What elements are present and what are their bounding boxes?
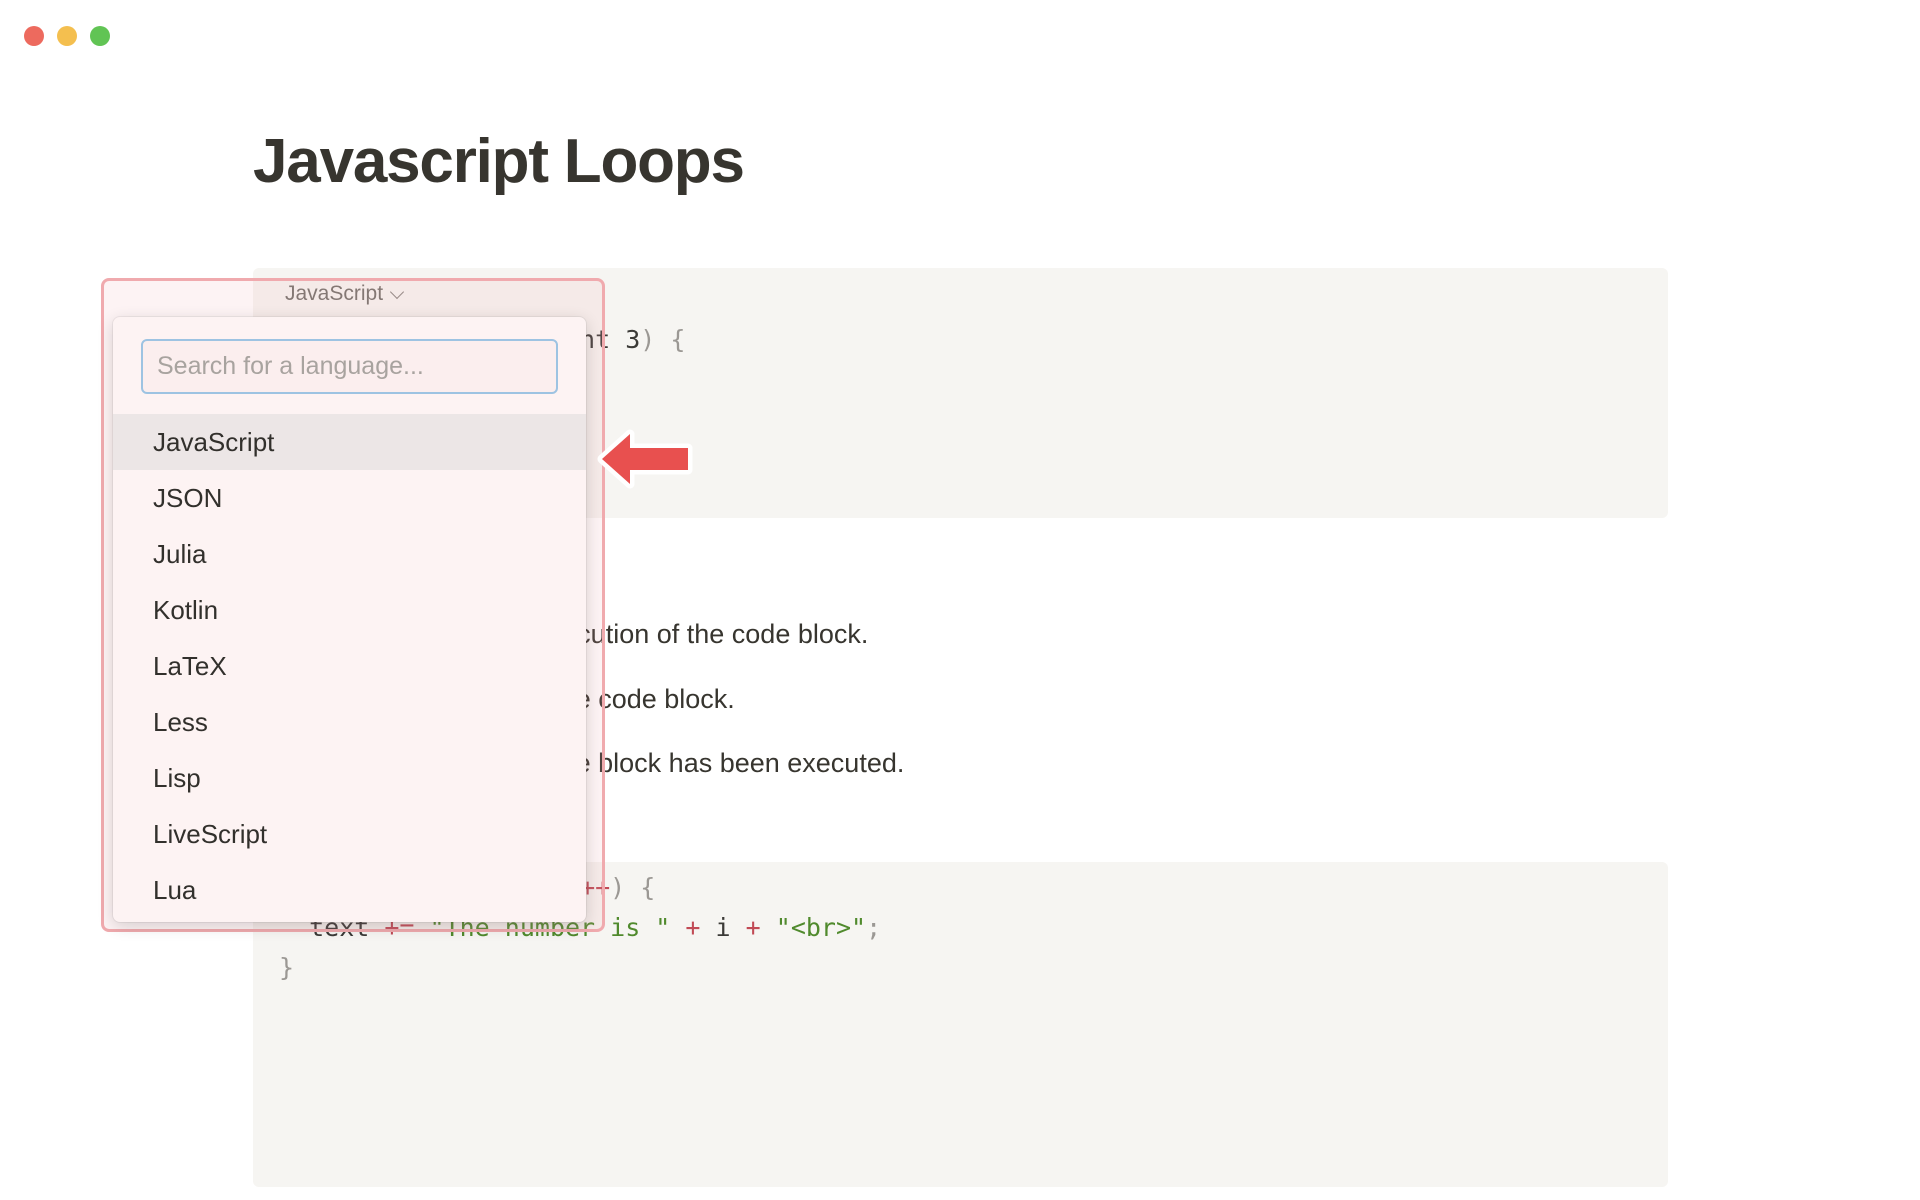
language-list-item[interactable]: LiveScript xyxy=(113,806,586,862)
language-search-input[interactable] xyxy=(141,339,558,394)
language-item-label: Lisp xyxy=(153,763,201,794)
language-list-item[interactable]: Lisp xyxy=(113,750,586,806)
language-item-label: Lua xyxy=(153,875,196,906)
language-item-label: JSON xyxy=(153,483,222,514)
language-list-item[interactable]: JSON xyxy=(113,470,586,526)
language-list-item[interactable]: Julia xyxy=(113,526,586,582)
language-item-label: JavaScript xyxy=(153,427,274,458)
code-language-bar: JavaScript xyxy=(253,268,1668,320)
language-item-label: Julia xyxy=(153,539,206,570)
language-selector-label: JavaScript xyxy=(285,282,383,306)
arrow-left-icon xyxy=(592,428,696,490)
language-list-item[interactable]: Lua xyxy=(113,862,586,918)
language-list: JavaScript JSON Julia Kotlin LaTeX Less … xyxy=(113,414,586,918)
app-window: Javascript Loops JavaScript statement 2;… xyxy=(0,0,1920,1200)
language-list-item[interactable]: LaTeX xyxy=(113,638,586,694)
traffic-light-group xyxy=(24,26,110,46)
minimize-button[interactable] xyxy=(57,26,77,46)
page-title: Javascript Loops xyxy=(253,126,744,197)
chevron-down-icon xyxy=(391,286,404,299)
language-item-label: Less xyxy=(153,707,208,738)
language-search-wrapper xyxy=(113,317,586,414)
maximize-button[interactable] xyxy=(90,26,110,46)
language-list-item[interactable]: Kotlin xyxy=(113,582,586,638)
language-list-item[interactable]: JavaScript xyxy=(113,414,586,470)
language-item-label: LaTeX xyxy=(153,651,227,682)
close-button[interactable] xyxy=(24,26,44,46)
language-item-label: LiveScript xyxy=(153,819,267,850)
language-selector-button[interactable]: JavaScript xyxy=(279,280,410,308)
language-dropdown-panel: JavaScript JSON Julia Kotlin LaTeX Less … xyxy=(113,317,586,922)
window-titlebar xyxy=(0,0,1920,72)
language-item-label: Kotlin xyxy=(153,595,218,626)
language-list-item[interactable]: Less xyxy=(113,694,586,750)
